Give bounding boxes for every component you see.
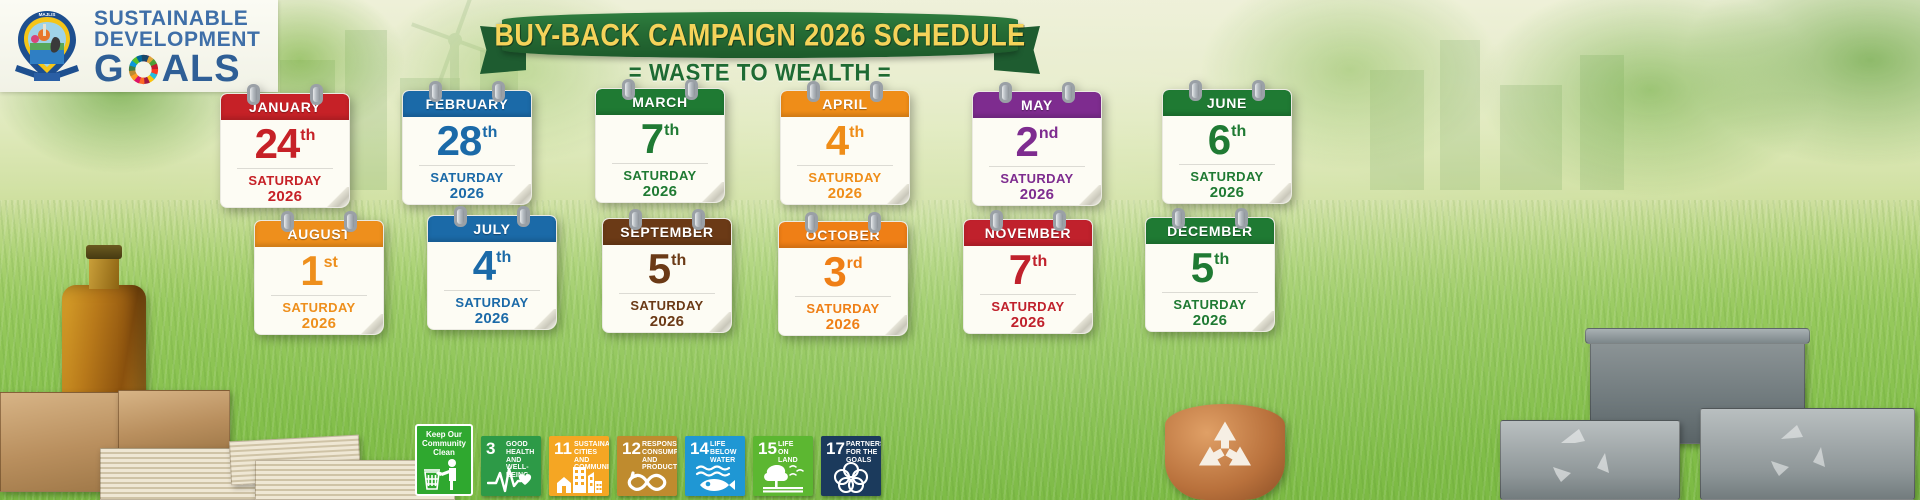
calendar-day-ordinal: th	[671, 252, 686, 270]
infinity-loop-icon	[617, 471, 677, 493]
calendar-body: FEBRUARY28thSATURDAY2026	[402, 90, 532, 205]
calendar-card-january: JANUARY24thSATURDAY2026	[220, 93, 350, 208]
calendar-header: SEPTEMBER	[603, 219, 731, 245]
calendar-body: JULY4thSATURDAY2026	[427, 215, 557, 330]
calendar-body: JUNE6thSATURDAY2026	[1162, 89, 1292, 204]
keep-clean-text: Keep Our Community Clean	[417, 430, 471, 458]
calendar-ring-right	[1062, 82, 1075, 103]
calendar-date: 28th	[403, 117, 531, 165]
calendar-ring-left	[1189, 80, 1202, 101]
calendar-day-ordinal: th	[849, 124, 864, 142]
sdg-number-15: 15	[758, 440, 777, 457]
calendar-body: APRIL4thSATURDAY2026	[780, 90, 910, 205]
calendar-ring-right	[344, 211, 357, 232]
calendar-day-number: 1	[300, 250, 322, 292]
calendar-ring-right	[685, 79, 698, 100]
calendar-divider	[619, 293, 715, 294]
calendar-day-ordinal: st	[324, 254, 338, 272]
calendar-body: DECEMBER5thSATURDAY2026	[1145, 217, 1275, 332]
calendar-ring-right	[868, 212, 881, 233]
page-curl	[534, 309, 556, 329]
sdg-wordmark: SUSTAINABLE DEVELOPMENT G	[94, 4, 260, 87]
page-curl	[702, 182, 724, 202]
calendar-weekday-label: SATURDAY	[428, 295, 556, 310]
calendar-divider	[1179, 164, 1275, 165]
calendar-month-label: JULY	[473, 221, 510, 237]
page-curl	[327, 187, 349, 207]
calendar-body: AUGUST1stSATURDAY2026	[254, 220, 384, 335]
calendar-header: APRIL	[781, 91, 909, 117]
page-curl	[709, 312, 731, 332]
sdg-tile-17: 17 PARTNERSHIPSFOR THE GOALS	[821, 436, 881, 496]
calendar-weekday-label: SATURDAY	[973, 171, 1101, 186]
calendar-ring-right	[692, 209, 705, 230]
brand-bar: MAJLIS SUSTAINABLE DEVELOPMENT G	[0, 0, 278, 92]
calendar-weekday-label: SATURDAY	[255, 300, 383, 315]
keep-clean-line-1: Keep Our	[417, 430, 471, 439]
sdg-goals-als: ALS	[162, 51, 241, 87]
calendar-ring-left	[990, 210, 1003, 231]
calendar-weekday-label: SATURDAY	[603, 298, 731, 313]
calendar-month-label: AUGUST	[287, 226, 350, 242]
calendar-card-april: APRIL4thSATURDAY2026	[780, 90, 910, 205]
clay-pot-recycle-symbol	[1165, 404, 1285, 500]
calendar-month-label: MARCH	[632, 94, 688, 110]
calendar-date: 4th	[781, 117, 909, 165]
calendar-ring-left	[807, 81, 820, 102]
calendar-day-ordinal: rd	[847, 255, 863, 273]
poster-title: BUY-BACK CAMPAIGN 2026 SCHEDULE	[495, 17, 1026, 54]
calendar-weekday-label: SATURDAY	[781, 170, 909, 185]
calendar-card-december: DECEMBER5thSATURDAY2026	[1145, 217, 1275, 332]
calendar-month-label: APRIL	[822, 96, 868, 112]
calendar-ring-left	[281, 211, 294, 232]
calendar-card-october: OCTOBER3rdSATURDAY2026	[778, 221, 908, 336]
sdg-number-11: 11	[554, 440, 572, 457]
calendar-body: MAY2ndSATURDAY2026	[972, 91, 1102, 206]
recycle-symbol-icon	[1193, 418, 1257, 483]
sdg-number-3: 3	[486, 440, 495, 457]
calendar-day-ordinal: th	[1214, 251, 1229, 269]
page-curl	[361, 314, 383, 334]
calendar-day-number: 6	[1208, 119, 1230, 161]
keep-clean-line-3: Clean	[417, 448, 471, 457]
calendar-body: NOVEMBER7thSATURDAY2026	[963, 219, 1093, 334]
calendar-header: NOVEMBER	[964, 220, 1092, 246]
calendar-divider	[795, 296, 891, 297]
calendar-weekday-label: SATURDAY	[1146, 297, 1274, 312]
calendar-day-number: 4	[473, 245, 495, 287]
metal-crate-1	[1700, 408, 1915, 500]
calendar-day-ordinal: th	[664, 122, 679, 140]
interlocking-circles-icon	[821, 461, 881, 493]
calendar-date: 3rd	[779, 248, 907, 296]
calendar-body: JANUARY24thSATURDAY2026	[220, 93, 350, 208]
keep-clean-line-2: Community	[417, 439, 471, 448]
calendar-day-number: 28	[437, 120, 482, 162]
calendar-date: 6th	[1163, 116, 1291, 164]
calendar-header: JUNE	[1163, 90, 1291, 116]
poster-canvas: MAJLIS SUSTAINABLE DEVELOPMENT G	[0, 0, 1920, 500]
person-throwing-litter-icon	[417, 458, 471, 490]
page-curl	[887, 184, 909, 204]
sdg-number-14: 14	[690, 440, 709, 457]
calendar-card-july: JULY4thSATURDAY2026	[427, 215, 557, 330]
calendar-divider	[419, 165, 515, 166]
sdg-icon-strip: Keep Our Community Clean	[415, 424, 881, 496]
heartbeat-icon	[481, 465, 541, 493]
page-curl	[885, 315, 907, 335]
ribbon-band: BUY-BACK CAMPAIGN 2026 SCHEDULE	[502, 12, 1018, 58]
calendar-day-number: 7	[1009, 249, 1031, 291]
calendar-ring-left	[247, 84, 260, 105]
calendar-date: 7th	[964, 246, 1092, 294]
calendar-date: 24th	[221, 120, 349, 168]
sdg-line-1: SUSTAINABLE	[94, 8, 260, 29]
calendar-header: OCTOBER	[779, 222, 907, 248]
calendar-day-number: 24	[255, 123, 300, 165]
metal-crate-2	[1500, 420, 1680, 500]
calendar-body: MARCH7thSATURDAY2026	[595, 88, 725, 203]
calendar-card-september: SEPTEMBER5thSATURDAY2026	[602, 218, 732, 333]
calendar-divider	[444, 290, 540, 291]
calendar-month-label: MAY	[1021, 97, 1053, 113]
title-ribbon: BUY-BACK CAMPAIGN 2026 SCHEDULE = WASTE …	[480, 4, 1040, 92]
calendar-weekday-label: SATURDAY	[403, 170, 531, 185]
calendar-divider	[980, 294, 1076, 295]
calendar-body: OCTOBER3rdSATURDAY2026	[778, 221, 908, 336]
calendar-date: 1st	[255, 247, 383, 295]
calendar-weekday-label: SATURDAY	[596, 168, 724, 183]
calendar-header: MAY	[973, 92, 1101, 118]
sdg-tile-3: 3 GOOD HEALTHAND WELL-BEING	[481, 436, 541, 496]
calendar-ring-right	[1252, 80, 1265, 101]
calendar-ring-left	[999, 82, 1012, 103]
calendar-header: FEBRUARY	[403, 91, 531, 117]
calendar-day-number: 2	[1016, 121, 1038, 163]
sdg-label-12: RESPONSIBLECONSUMPTIONAND PRODUCTION	[642, 441, 674, 472]
calendar-weekday-label: SATURDAY	[779, 301, 907, 316]
calendar-day-number: 5	[1191, 247, 1213, 289]
calendar-card-june: JUNE6thSATURDAY2026	[1162, 89, 1292, 204]
sdg-number-12: 12	[622, 440, 641, 457]
svg-text:MAJLIS: MAJLIS	[39, 12, 56, 17]
calendar-ring-left	[805, 212, 818, 233]
sdg-goals-row: G	[94, 51, 260, 87]
calendar-day-ordinal: th	[1231, 123, 1246, 141]
keep-our-community-clean-badge: Keep Our Community Clean	[415, 424, 473, 496]
calendar-day-ordinal: th	[496, 249, 511, 267]
calendar-ring-right	[1235, 208, 1248, 229]
calendar-ring-right	[517, 206, 530, 227]
calendar-day-ordinal: th	[300, 127, 315, 145]
calendar-day-ordinal: th	[1032, 253, 1047, 271]
calendar-header: JANUARY	[221, 94, 349, 120]
bin-lid	[1585, 328, 1810, 344]
calendar-ring-left	[622, 79, 635, 100]
page-curl	[1070, 313, 1092, 333]
calendar-header: MARCH	[596, 89, 724, 115]
fish-waves-icon	[685, 463, 745, 493]
sdg-tile-14: 14 LIFE BELOWWATER	[685, 436, 745, 496]
calendar-ring-right	[492, 81, 505, 102]
calendar-card-august: AUGUST1stSATURDAY2026	[254, 220, 384, 335]
calendar-divider	[1162, 292, 1258, 293]
calendar-month-label: JUNE	[1207, 95, 1247, 111]
calendar-day-number: 4	[826, 120, 848, 162]
calendar-date: 5th	[1146, 244, 1274, 292]
calendar-ring-right	[1053, 210, 1066, 231]
calendar-day-number: 3	[823, 251, 845, 293]
calendar-header: AUGUST	[255, 221, 383, 247]
calendar-weekday-label: SATURDAY	[221, 173, 349, 188]
cardboard-box-small	[118, 390, 230, 456]
calendar-ring-left	[629, 209, 642, 230]
calendar-divider	[237, 168, 333, 169]
calendar-day-ordinal: nd	[1039, 125, 1059, 143]
calendar-ring-right	[870, 81, 883, 102]
sdg-label-14: LIFE BELOWWATER	[710, 441, 742, 464]
page-curl	[1079, 185, 1101, 205]
calendar-body: SEPTEMBER5thSATURDAY2026	[602, 218, 732, 333]
sdg-color-wheel-icon	[126, 52, 161, 87]
calendar-ring-left	[454, 206, 467, 227]
page-curl	[1269, 183, 1291, 203]
sdg-tile-15: 15 LIFEON LAND	[753, 436, 813, 496]
calendar-date: 2nd	[973, 118, 1101, 166]
calendar-divider	[612, 163, 708, 164]
calendar-day-ordinal: th	[482, 124, 497, 142]
sdg-line-2: DEVELOPMENT	[94, 29, 260, 50]
page-curl	[509, 184, 531, 204]
calendar-weekday-label: SATURDAY	[964, 299, 1092, 314]
calendar-header: DECEMBER	[1146, 218, 1274, 244]
tree-birds-icon	[753, 461, 813, 493]
calendar-divider	[271, 295, 367, 296]
calendar-date: 7th	[596, 115, 724, 163]
calendar-date: 5th	[603, 245, 731, 293]
calendar-card-march: MARCH7thSATURDAY2026	[595, 88, 725, 203]
page-curl	[1252, 311, 1274, 331]
calendar-day-number: 5	[648, 248, 670, 290]
calendar-card-february: FEBRUARY28thSATURDAY2026	[402, 90, 532, 205]
calendar-divider	[797, 165, 893, 166]
city-buildings-icon	[549, 463, 609, 493]
calendar-ring-right	[310, 84, 323, 105]
sdg-tile-12: 12 RESPONSIBLECONSUMPTIONAND PRODUCTION	[617, 436, 677, 496]
poster-subtitle: = WASTE TO WEALTH =	[480, 59, 1040, 88]
calendar-header: JULY	[428, 216, 556, 242]
calendar-ring-left	[429, 81, 442, 102]
calendar-divider	[989, 166, 1085, 167]
sdg-number-17: 17	[826, 440, 845, 457]
calendar-card-may: MAY2ndSATURDAY2026	[972, 91, 1102, 206]
sdg-goals-g: G	[94, 51, 125, 87]
calendar-day-number: 7	[641, 118, 663, 160]
calendar-date: 4th	[428, 242, 556, 290]
calendar-weekday-label: SATURDAY	[1163, 169, 1291, 184]
calendar-card-november: NOVEMBER7thSATURDAY2026	[963, 219, 1093, 334]
majlis-bandaraya-miri-crest: MAJLIS	[8, 7, 86, 85]
calendar-ring-left	[1172, 208, 1185, 229]
sdg-tile-11: 11 SUSTAINABLE CITIESAND COMMUNITIES	[549, 436, 609, 496]
